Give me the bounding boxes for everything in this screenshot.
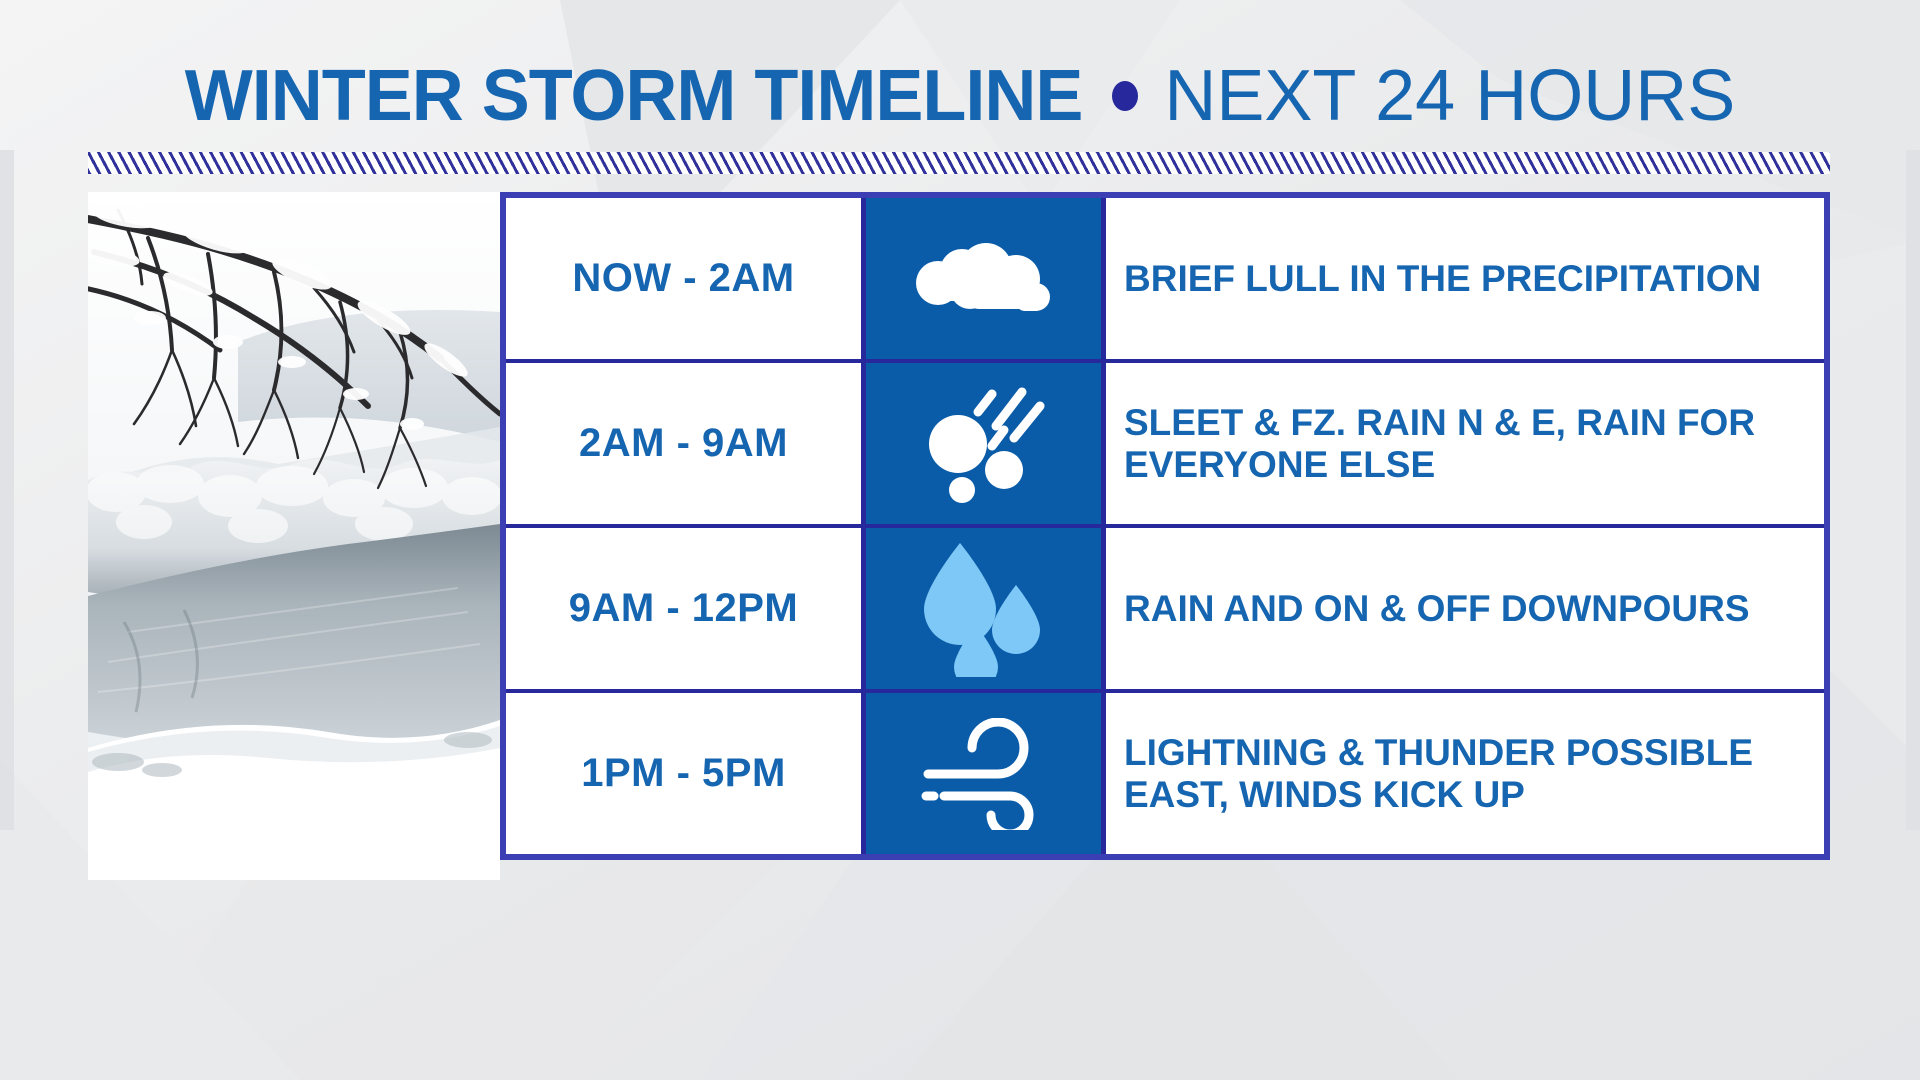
time-label: NOW - 2AM (572, 256, 794, 301)
timeline-table: NOW - 2AM (500, 192, 1830, 860)
description-text: LIGHTNING & THUNDER POSSIBLE EAST, WINDS… (1124, 732, 1806, 816)
description-text: RAIN AND ON & OFF DOWNPOURS (1124, 588, 1750, 630)
table-row: 1PM - 5PM LIGHTNING & THUNDER POSSIBLE E… (506, 693, 1824, 854)
timeline-stage: NOW - 2AM (88, 192, 1830, 880)
title-bold-text: WINTER STORM TIMELINE (185, 60, 1083, 132)
icon-cell (866, 693, 1106, 854)
icon-cell (866, 198, 1106, 359)
time-cell: 1PM - 5PM (506, 693, 866, 854)
time-label: 2AM - 9AM (579, 421, 788, 466)
description-cell: BRIEF LULL IN THE PRECIPITATION (1106, 198, 1824, 359)
description-text: BRIEF LULL IN THE PRECIPITATION (1124, 258, 1761, 300)
description-cell: SLEET & FZ. RAIN N & E, RAIN FOR EVERYON… (1106, 363, 1824, 524)
description-cell: LIGHTNING & THUNDER POSSIBLE EAST, WINDS… (1106, 693, 1824, 854)
winter-photo (88, 192, 500, 880)
hatched-divider (88, 152, 1830, 174)
time-cell: NOW - 2AM (506, 198, 866, 359)
sleet-icon (916, 382, 1052, 506)
icon-cell (866, 363, 1106, 524)
description-text: SLEET & FZ. RAIN N & E, RAIN FOR EVERYON… (1124, 402, 1806, 486)
time-cell: 9AM - 12PM (506, 528, 866, 689)
time-label: 1PM - 5PM (581, 751, 786, 796)
page-title: WINTER STORM TIMELINE NEXT 24 HOURS (0, 60, 1920, 132)
time-label: 9AM - 12PM (569, 586, 799, 631)
description-cell: RAIN AND ON & OFF DOWNPOURS (1106, 528, 1824, 689)
icon-cell (866, 528, 1106, 689)
rain-droplets-icon (914, 541, 1054, 677)
title-light-text: NEXT 24 HOURS (1164, 60, 1735, 132)
table-row: NOW - 2AM (506, 198, 1824, 363)
table-row: 9AM - 12PM RAIN AND ON & OFF DOWNPOURS (506, 528, 1824, 693)
time-cell: 2AM - 9AM (506, 363, 866, 524)
table-row: 2AM - 9AM S (506, 363, 1824, 528)
title-bullet-icon (1112, 81, 1138, 111)
wind-icon (914, 718, 1054, 830)
clouds-icon (904, 227, 1064, 331)
